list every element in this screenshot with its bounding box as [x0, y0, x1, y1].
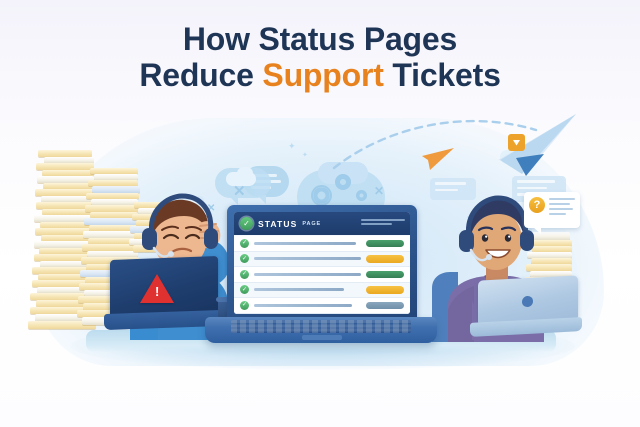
paper-plane-icon: [330, 104, 580, 190]
question-card-lines: [549, 198, 575, 218]
title-line-2-prefix: Reduce: [139, 57, 262, 93]
laptop-keyboard[interactable]: [231, 320, 411, 333]
illustration-canvas: How Status Pages Reduce Support Tickets …: [0, 0, 640, 427]
support-agent-laptop: [470, 278, 582, 340]
status-laptop-lid: ✓ STATUS PAGE ✓ ✓: [227, 205, 417, 323]
gear-icon-large: [311, 185, 332, 206]
gear-icon-small: [356, 190, 367, 201]
check-circle-icon: ✓: [240, 217, 253, 230]
status-row[interactable]: ✓: [234, 252, 410, 268]
question-badge-icon: ?: [529, 197, 545, 213]
status-page-title-suffix: PAGE: [302, 221, 321, 227]
title-line-2: Reduce Support Tickets: [0, 58, 640, 94]
title-line-1: How Status Pages: [0, 22, 640, 58]
row-status-pill: [366, 240, 404, 248]
status-page-laptop: ✓ STATUS PAGE ✓ ✓: [205, 205, 437, 353]
status-row[interactable]: ✓: [234, 298, 410, 314]
status-page-title: STATUS: [258, 219, 297, 229]
row-label-placeholder: [254, 273, 361, 276]
row-status-pill: [366, 255, 404, 263]
row-check-icon: ✓: [240, 270, 249, 279]
page-title: How Status Pages Reduce Support Tickets: [0, 22, 640, 94]
row-check-icon: ✓: [240, 254, 249, 263]
row-status-pill: [366, 302, 404, 310]
status-page-meta: [361, 219, 405, 227]
sparkle-icon-1: ✦: [288, 142, 296, 151]
row-label-placeholder: [254, 288, 344, 291]
question-card: ?: [524, 192, 580, 228]
status-row[interactable]: ✓: [234, 236, 410, 252]
row-check-icon: ✓: [240, 285, 249, 294]
status-page-header: ✓ STATUS PAGE: [234, 212, 410, 235]
row-status-pill: [366, 271, 404, 279]
sparkle-icon-2: ✦: [302, 152, 308, 159]
status-row[interactable]: ✓: [234, 267, 410, 283]
cloud-icon-left-puff: [237, 167, 253, 180]
status-row[interactable]: ✓: [234, 283, 410, 299]
warning-glyph: !: [155, 285, 159, 298]
row-label-placeholder: [254, 257, 361, 260]
row-label-placeholder: [254, 242, 356, 245]
row-check-icon: ✓: [240, 239, 249, 248]
title-line-2-suffix: Tickets: [384, 57, 501, 93]
row-status-pill: [366, 286, 404, 294]
row-label-placeholder: [254, 304, 352, 307]
status-laptop-base: [205, 317, 437, 343]
laptop-trackpad[interactable]: [302, 335, 342, 340]
title-accent-word: Support: [262, 57, 383, 93]
laptop-logo-icon: [522, 296, 533, 308]
row-check-icon: ✓: [240, 301, 249, 310]
status-row-list: ✓ ✓ ✓ ✓: [234, 235, 410, 314]
status-page-screen[interactable]: ✓ STATUS PAGE ✓ ✓: [234, 212, 410, 314]
